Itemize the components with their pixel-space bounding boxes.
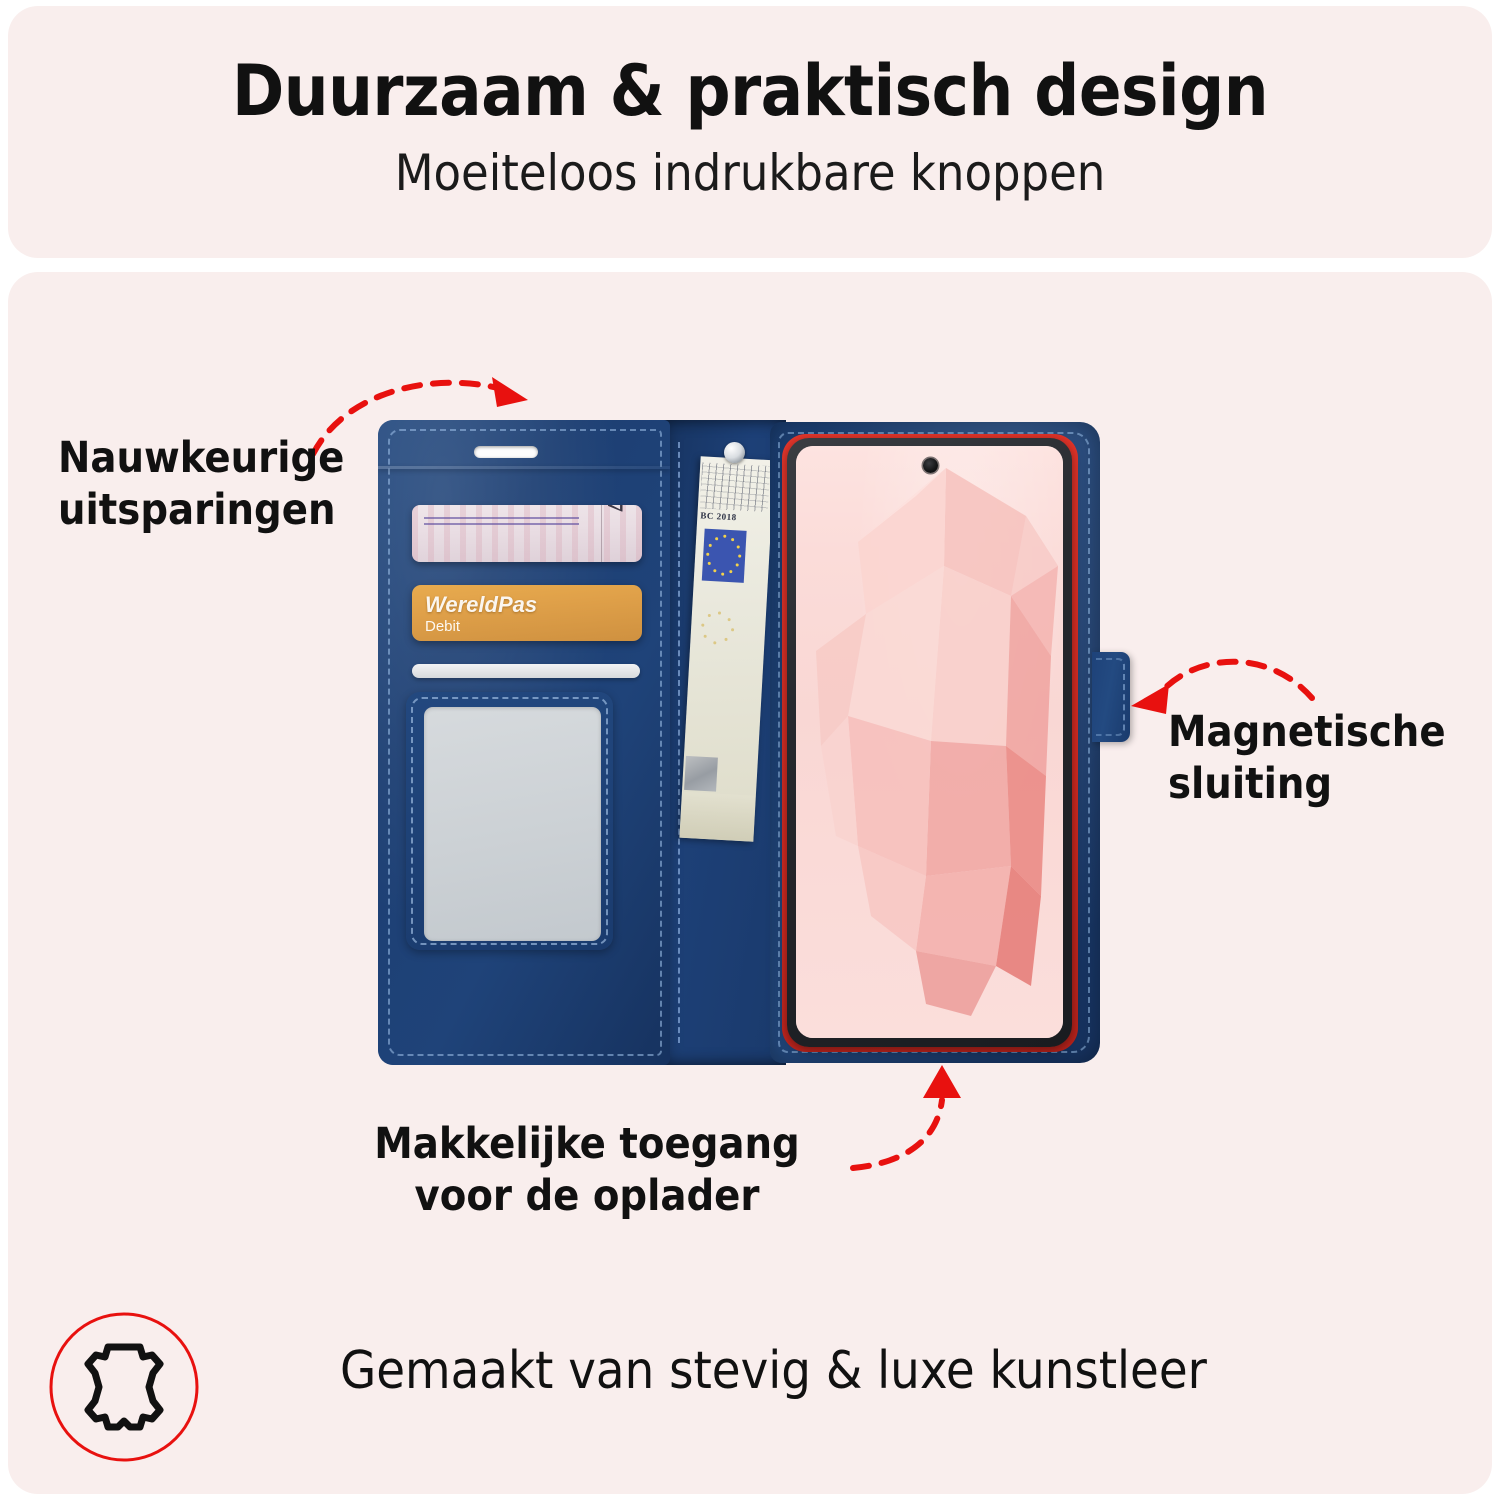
window-pocket-glass xyxy=(424,707,601,941)
banknote-hologram xyxy=(684,756,718,792)
annotation-magnet: Magnetische sluiting xyxy=(1168,706,1468,811)
gem-facets xyxy=(796,446,1063,1038)
product-image-wallet-case: BC 2018 xyxy=(378,420,1100,1065)
annotation-cutouts: Nauwkeurige uitsparingen xyxy=(58,432,388,537)
id-card-number: 797 xyxy=(602,505,628,513)
gem-wallpaper xyxy=(796,446,1063,1038)
annotation-charger: Makkelijke toegang voor de oplader xyxy=(352,1118,822,1223)
debit-card-label: Debit xyxy=(425,618,460,635)
euro-banknote: BC 2018 xyxy=(679,456,774,842)
leather-hide-badge xyxy=(48,1311,200,1463)
flap-top-seam xyxy=(378,466,670,469)
phone-screen xyxy=(796,446,1063,1038)
banknote-pattern xyxy=(700,462,770,512)
eu-flag-stars xyxy=(702,529,747,583)
page-subtitle: Moeiteloos indrukbare knoppen xyxy=(8,128,1492,201)
speaker-cutout xyxy=(474,446,538,458)
magnetic-closure-tab xyxy=(1092,652,1130,742)
leather-hide-icon xyxy=(48,1311,200,1463)
banknote-watermark-stars xyxy=(695,606,744,664)
infographic-page: Duurzaam & praktisch design Moeiteloos i… xyxy=(0,0,1500,1500)
spine-stitching xyxy=(678,442,680,1043)
banknote-lower-band xyxy=(679,792,755,842)
footer-row: Gemaakt van stevig & luxe kunstleer xyxy=(0,1305,1500,1475)
front-camera-punch-hole xyxy=(923,458,938,473)
case-spine-pocket: BC 2018 xyxy=(660,420,786,1065)
id-card: 797 xyxy=(412,505,642,562)
footer-text: Gemaakt van stevig & luxe kunstleer xyxy=(340,1343,1440,1400)
window-pocket xyxy=(406,692,613,950)
id-card-text-lines xyxy=(424,513,579,525)
id-card-edge-line xyxy=(601,505,603,562)
header-panel: Duurzaam & praktisch design Moeiteloos i… xyxy=(8,6,1492,258)
card-slot-lip xyxy=(412,664,640,678)
rivet-snap-button xyxy=(724,442,745,463)
banknote-code: BC 2018 xyxy=(700,510,737,522)
magnetic-tab-stitching xyxy=(1096,658,1125,736)
page-title: Duurzaam & praktisch design xyxy=(8,6,1492,128)
case-card-flap: 797 WereldPas Debit xyxy=(378,420,670,1065)
debit-card: WereldPas Debit xyxy=(412,585,642,641)
header-text-block: Duurzaam & praktisch design Moeiteloos i… xyxy=(8,6,1492,201)
debit-card-brand: WereldPas xyxy=(425,592,537,618)
